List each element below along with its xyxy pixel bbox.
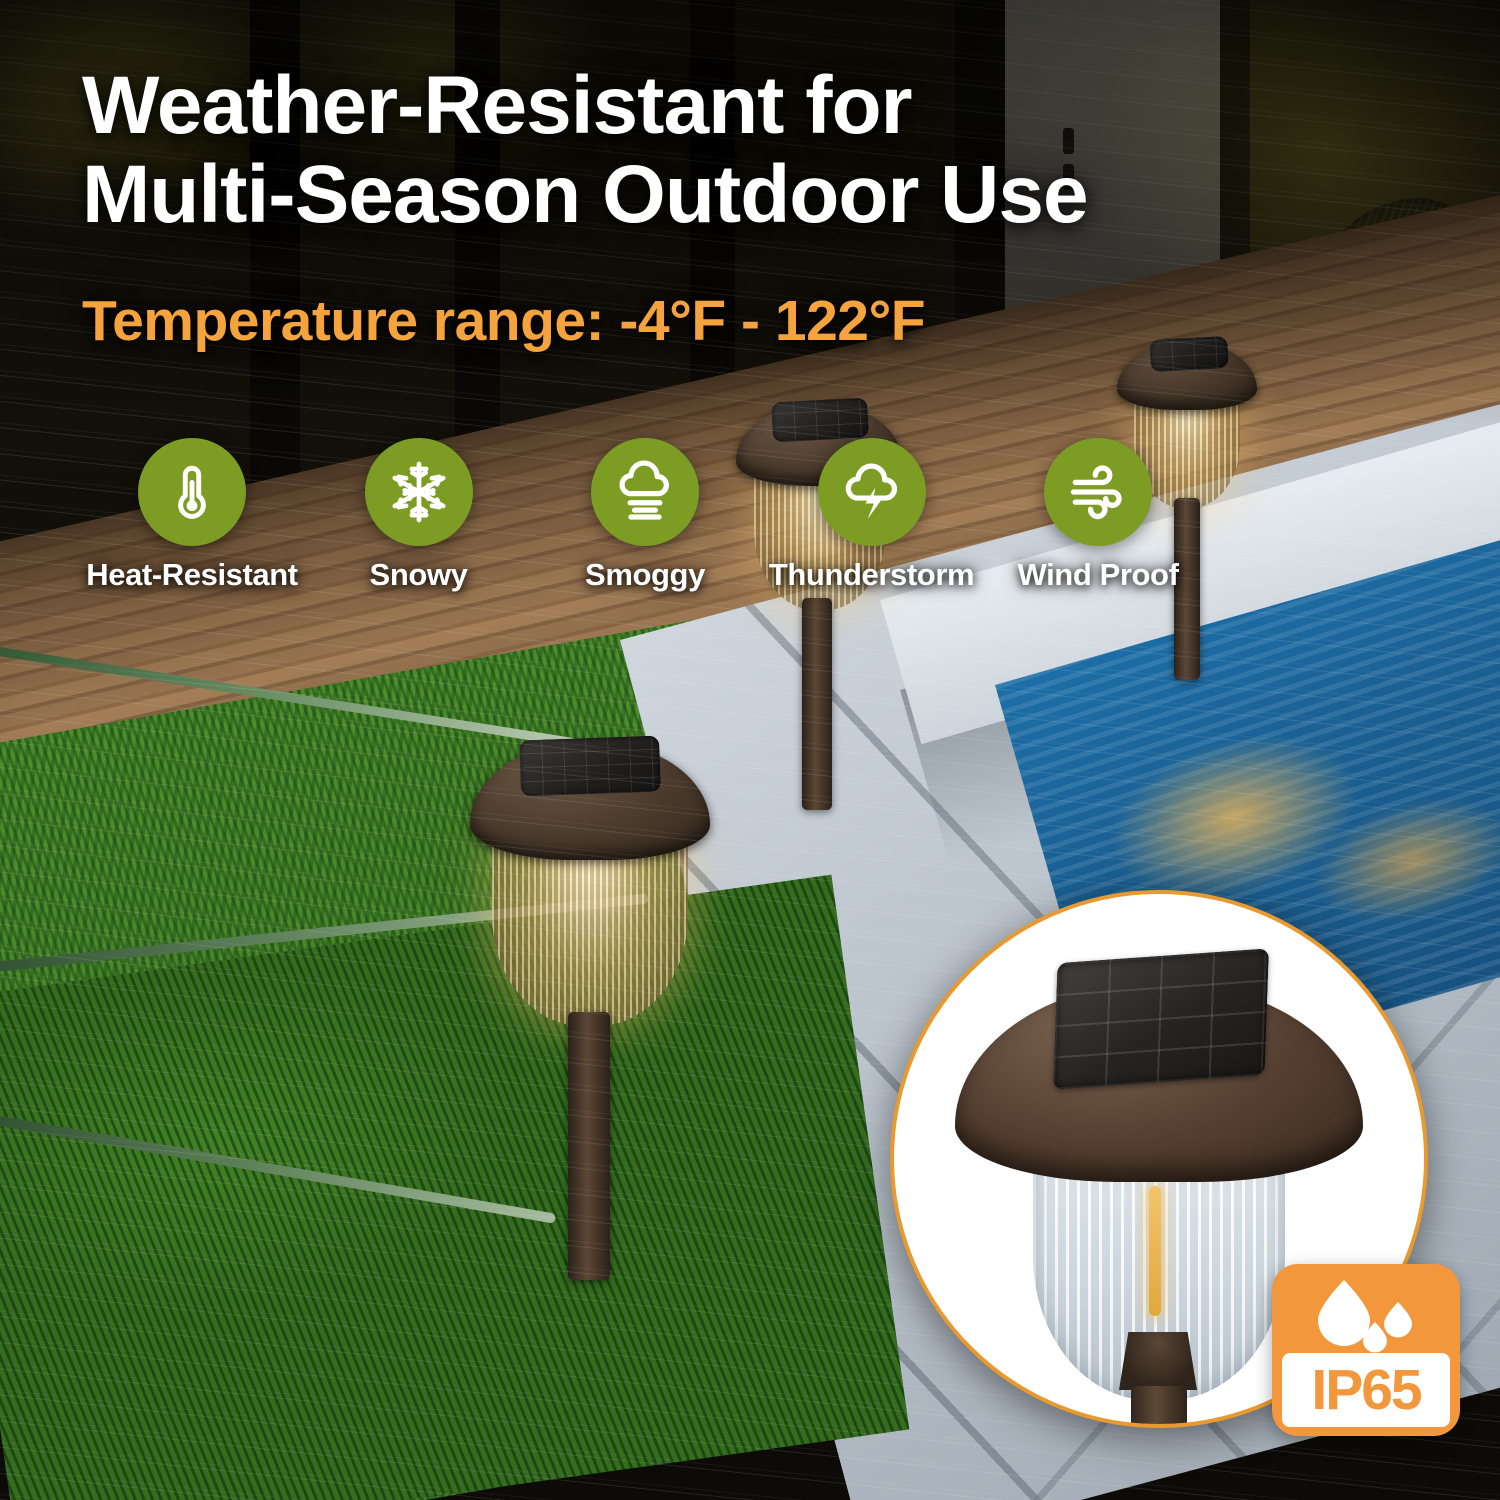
feature-icon-circle — [138, 438, 246, 546]
headline-line-1: Weather-Resistant for — [82, 62, 1262, 151]
water-drops-icon — [1272, 1274, 1460, 1354]
headline-line-2: Multi-Season Outdoor Use — [82, 151, 1262, 240]
thermometer-icon — [161, 461, 223, 523]
inset-shade-base — [1119, 1332, 1197, 1390]
inset-solar-panel-icon — [1053, 948, 1269, 1089]
solar-panel-icon — [771, 398, 869, 443]
ip-rating-band: IP65 — [1282, 1353, 1450, 1427]
cloud-lightning-icon — [839, 459, 905, 525]
feature-label: Thunderstorm — [769, 557, 974, 593]
feature-label: Heat-Resistant — [86, 557, 297, 593]
feature-icon-circle — [818, 438, 926, 546]
lamp-stem — [568, 1012, 610, 1280]
inset-lamp-stem — [1131, 1386, 1187, 1428]
feature-heat-resistant: Heat-Resistant — [112, 438, 272, 608]
feature-wind-proof: Wind Proof — [1018, 438, 1178, 608]
feature-icon-circle — [1044, 438, 1152, 546]
feature-icon-circle — [591, 438, 699, 546]
foreground-solar-lamp — [460, 720, 720, 1280]
product-feature-banner: Weather-Resistant for Multi-Season Outdo… — [0, 0, 1500, 1500]
feature-snowy: Snowy — [339, 438, 499, 608]
feature-thunderstorm: Thunderstorm — [792, 438, 952, 608]
ip-rating-text: IP65 — [1311, 1362, 1420, 1419]
lamp-glass-shade — [492, 836, 688, 1026]
status-badge: IP65 — [1272, 1264, 1460, 1436]
solar-panel-icon — [519, 736, 661, 797]
feature-label: Wind Proof — [1017, 557, 1178, 593]
feature-smoggy: Smoggy — [565, 438, 725, 608]
temperature-range-text: Temperature range: -4°F - 122°F — [82, 288, 1282, 354]
page-title: Weather-Resistant for Multi-Season Outdo… — [82, 62, 1262, 239]
feature-icon-circle — [365, 438, 473, 546]
lamp-stem — [802, 598, 832, 810]
feature-label: Snowy — [370, 557, 468, 593]
feature-label: Smoggy — [585, 557, 705, 593]
cloud-fog-icon — [612, 459, 678, 525]
feature-badge-row: Heat-Resistant Snowy — [0, 438, 1290, 608]
wind-icon — [1066, 460, 1130, 524]
snowflake-icon — [386, 459, 452, 525]
inset-led-filament — [1149, 1186, 1161, 1316]
